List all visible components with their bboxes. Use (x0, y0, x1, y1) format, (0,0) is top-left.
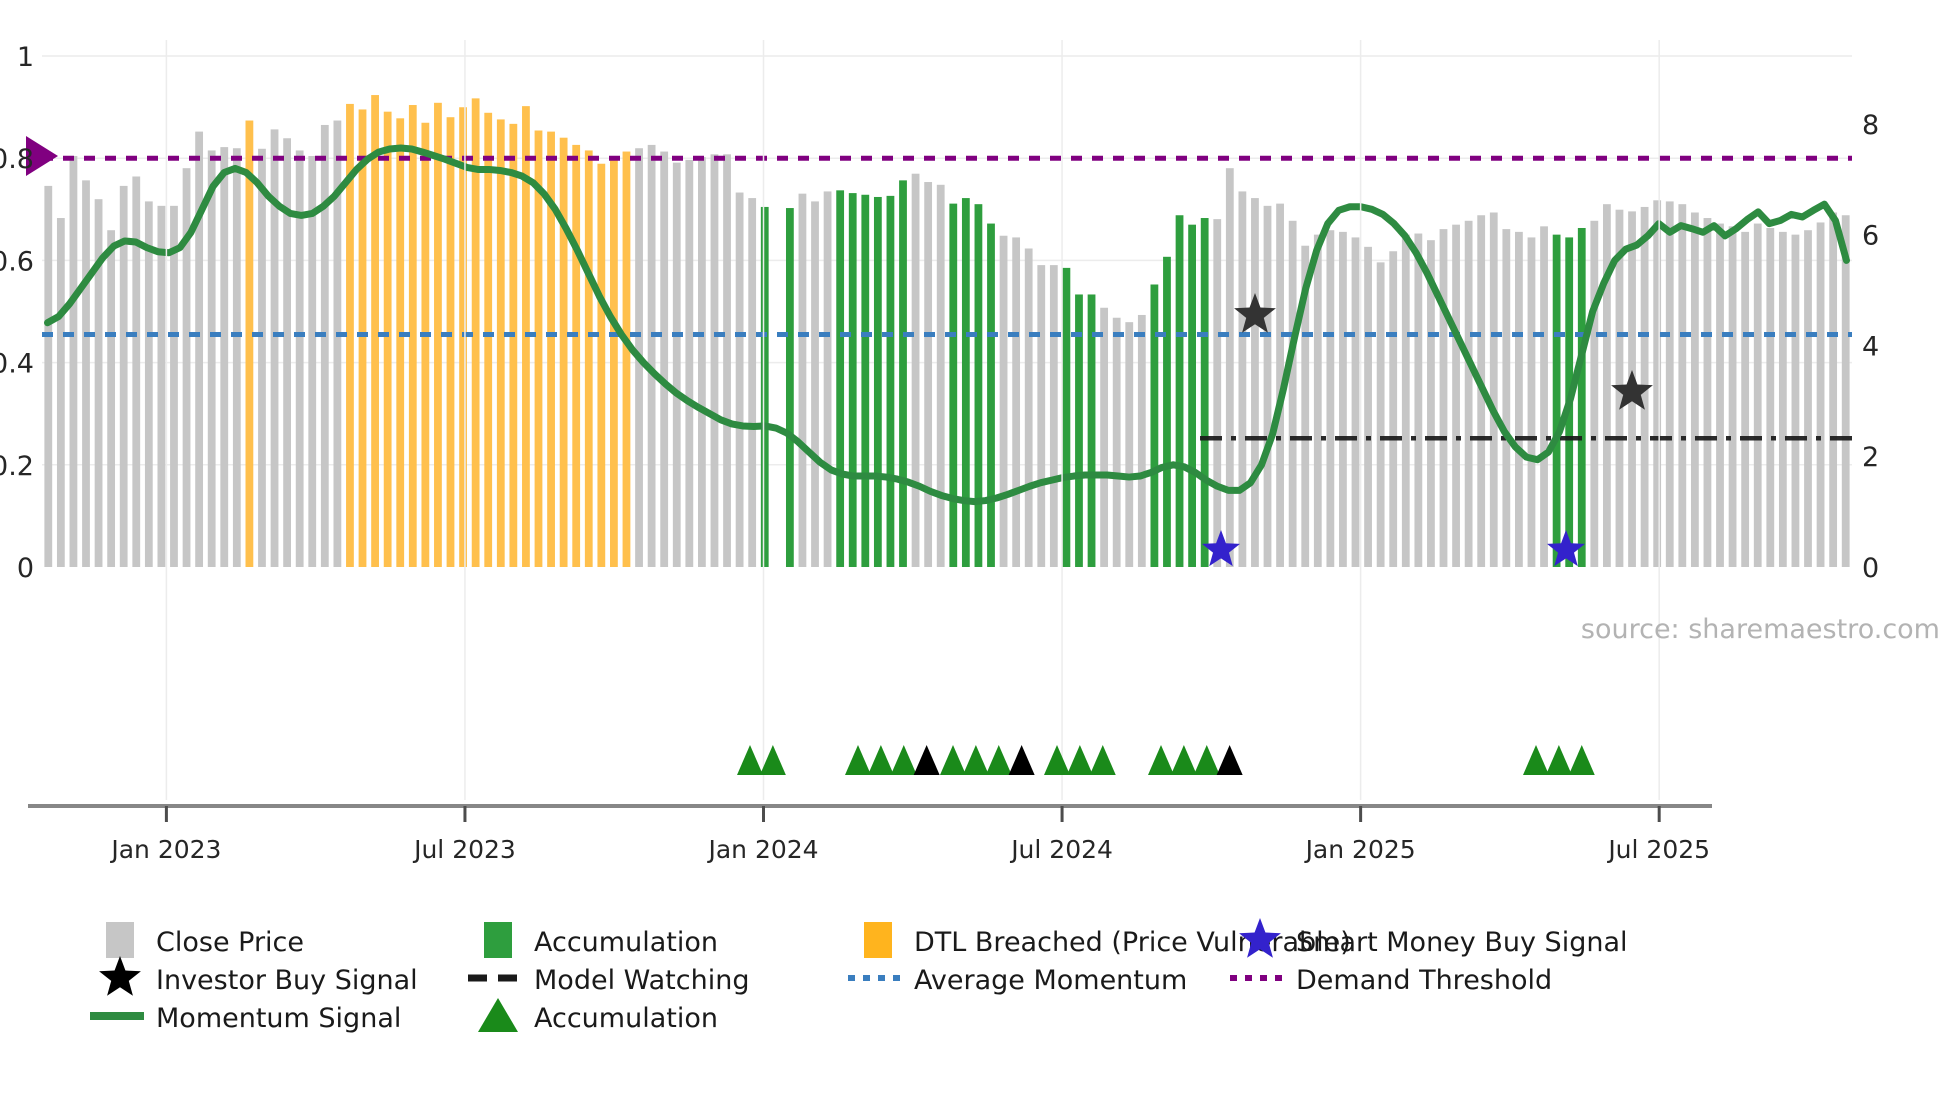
price-bar (1176, 215, 1184, 567)
price-bar (623, 152, 631, 567)
price-bar (648, 145, 656, 567)
left-axis-tick-label: 1 (17, 42, 34, 73)
legend-swatch-square (864, 922, 892, 958)
price-bar (761, 207, 769, 567)
price-bar (1829, 212, 1837, 567)
price-bar (711, 154, 719, 567)
price-bar (195, 132, 203, 567)
right-axis-tick-label: 8 (1862, 110, 1879, 141)
price-bar (849, 193, 857, 567)
price-bar (1037, 265, 1045, 567)
x-axis-tick-label: Jul 2025 (1606, 835, 1710, 864)
price-bar (1113, 318, 1121, 567)
price-bar (1389, 251, 1397, 567)
right-axis-tick-label: 2 (1862, 442, 1879, 473)
price-bar (874, 197, 882, 567)
price-bar (170, 206, 178, 567)
legend-label: Average Momentum (914, 965, 1187, 996)
price-bar (132, 176, 140, 567)
price-bar (610, 156, 618, 567)
price-bar (975, 204, 983, 567)
legend-label: DTL Breached (Price Vulnerable) (914, 927, 1351, 958)
price-bar (246, 121, 254, 567)
price-bar (1490, 212, 1498, 567)
price-bar (1238, 191, 1246, 567)
legend-label: Demand Threshold (1296, 965, 1552, 996)
left-axis-tick-label: 0.8 (0, 144, 34, 175)
legend-label: Close Price (156, 927, 304, 958)
price-bar (208, 150, 216, 567)
right-axis-tick-label: 0 (1862, 553, 1879, 584)
price-bar (1716, 224, 1724, 567)
price-bar (585, 150, 593, 567)
price-bar (145, 201, 153, 567)
price-bar (1729, 226, 1737, 567)
price-bar (459, 107, 467, 567)
x-axis-tick-label: Jul 2023 (412, 835, 516, 864)
price-bar (107, 230, 115, 567)
price-bar (535, 131, 543, 568)
price-bar (1666, 201, 1674, 567)
price-bar (1515, 232, 1523, 567)
price-bar (1452, 225, 1460, 567)
price-bar (949, 204, 957, 567)
price-bar (1125, 322, 1133, 567)
price-bar (57, 218, 65, 567)
price-bar (824, 191, 832, 567)
price-bar (1553, 235, 1561, 567)
price-bar (1414, 234, 1422, 567)
price-bar (899, 180, 907, 567)
x-axis-tick-label: Jan 2025 (1304, 835, 1416, 864)
price-bar (1251, 198, 1259, 567)
price-bar (924, 182, 932, 567)
legend-label: Accumulation (534, 1003, 718, 1034)
price-bar (1213, 219, 1221, 567)
left-axis-tick-label: 0.4 (0, 349, 34, 380)
price-bar (1766, 228, 1774, 567)
price-bar (1440, 229, 1448, 567)
price-bar (1691, 212, 1699, 567)
price-bar (1151, 284, 1159, 567)
price-bar (1578, 228, 1586, 567)
price-bar (434, 103, 442, 567)
legend-item[interactable]: DTL Breached (Price Vulnerable) (864, 922, 1351, 958)
price-bar (82, 180, 90, 567)
price-bar (258, 149, 266, 567)
price-bar (1339, 232, 1347, 567)
price-bar (509, 124, 517, 567)
price-bar (1603, 204, 1611, 567)
price-bar (1817, 222, 1825, 567)
price-bar (421, 123, 429, 567)
price-bar (673, 163, 681, 567)
price-bar (1226, 168, 1234, 567)
price-bar (1402, 235, 1410, 567)
price-bar (321, 125, 329, 567)
right-axis-tick-label: 6 (1862, 221, 1879, 252)
price-bar (1377, 262, 1385, 567)
price-bar (685, 160, 693, 567)
x-axis-tick-label: Jul 2024 (1009, 835, 1113, 864)
price-bar (1326, 230, 1334, 567)
price-bar (1000, 236, 1008, 567)
price-bar (1163, 257, 1171, 567)
legend-label: Model Watching (534, 965, 749, 996)
price-bar (572, 145, 580, 567)
price-bar (1352, 237, 1360, 567)
price-bar (1050, 265, 1058, 567)
price-bar (1063, 268, 1071, 567)
price-bar (70, 156, 78, 567)
price-bar (1754, 224, 1762, 567)
price-bar (158, 206, 166, 567)
price-bar (962, 198, 970, 567)
price-bar (1025, 248, 1033, 567)
price-bar (1364, 247, 1372, 567)
price-bar (1678, 204, 1686, 567)
price-bar (1540, 226, 1548, 567)
left-axis-tick-label: 0.2 (0, 451, 34, 482)
price-bar (861, 195, 869, 567)
price-bar (1792, 235, 1800, 567)
price-bar (1502, 229, 1510, 567)
price-bar (937, 185, 945, 567)
price-bar (1188, 225, 1196, 567)
price-bar (799, 194, 807, 567)
price-bar (1704, 218, 1712, 567)
price-bar (497, 119, 505, 567)
price-bar (1289, 221, 1297, 567)
price-bar (1842, 215, 1850, 567)
price-bar (698, 157, 706, 567)
price-bar (1201, 218, 1209, 567)
price-bar (836, 190, 844, 567)
price-bar (987, 224, 995, 567)
price-bar (1741, 232, 1749, 567)
price-bar (308, 156, 316, 567)
price-bar (384, 112, 392, 567)
price-bar (1264, 206, 1272, 567)
price-bar (220, 147, 228, 567)
price-bar (1779, 232, 1787, 567)
price-bar (1528, 237, 1536, 567)
price-bar (887, 196, 895, 567)
price-bar (736, 193, 744, 567)
price-bar (396, 118, 404, 567)
price-bar (359, 109, 367, 567)
legend-label: Smart Money Buy Signal (1296, 927, 1628, 958)
x-axis-tick-label: Jan 2024 (706, 835, 818, 864)
chart-page: 00.20.40.60.81 02468 Jan 2023Jul 2023Jan… (0, 0, 1960, 1102)
x-axis-tick-label: Jan 2023 (109, 835, 221, 864)
legend-label: Investor Buy Signal (156, 965, 418, 996)
left-axis-tick-label: 0.6 (0, 246, 34, 277)
legend-label: Momentum Signal (156, 1003, 401, 1034)
price-bar (283, 138, 291, 567)
price-bar (371, 95, 379, 567)
price-bar (723, 154, 731, 567)
price-bar (748, 198, 756, 567)
price-bar (786, 208, 794, 567)
price-bar (233, 148, 241, 567)
price-bar (1100, 308, 1108, 567)
legend-label: Accumulation (534, 927, 718, 958)
price-bar (447, 117, 455, 567)
source-attribution: source: sharemaestro.com (1581, 614, 1940, 645)
legend-swatch-square (484, 922, 512, 958)
price-bar (597, 164, 605, 567)
price-bar (912, 174, 920, 567)
right-axis-tick-label: 4 (1862, 331, 1879, 362)
price-bar (1138, 315, 1146, 567)
price-bar (484, 113, 492, 567)
price-bar (1465, 221, 1473, 567)
price-bar (1804, 230, 1812, 567)
price-bar (811, 201, 819, 567)
legend-swatch-square (106, 922, 134, 958)
left-axis-tick-label: 0 (17, 553, 34, 584)
momentum-accumulation-chart: 00.20.40.60.81 02468 Jan 2023Jul 2023Jan… (0, 0, 1960, 1102)
price-bar (1590, 221, 1598, 567)
price-bar (560, 138, 568, 567)
price-bar (1012, 237, 1020, 567)
price-bar (44, 186, 52, 567)
price-bar (660, 152, 668, 567)
price-bar (409, 105, 417, 567)
price-bar (1314, 235, 1322, 567)
